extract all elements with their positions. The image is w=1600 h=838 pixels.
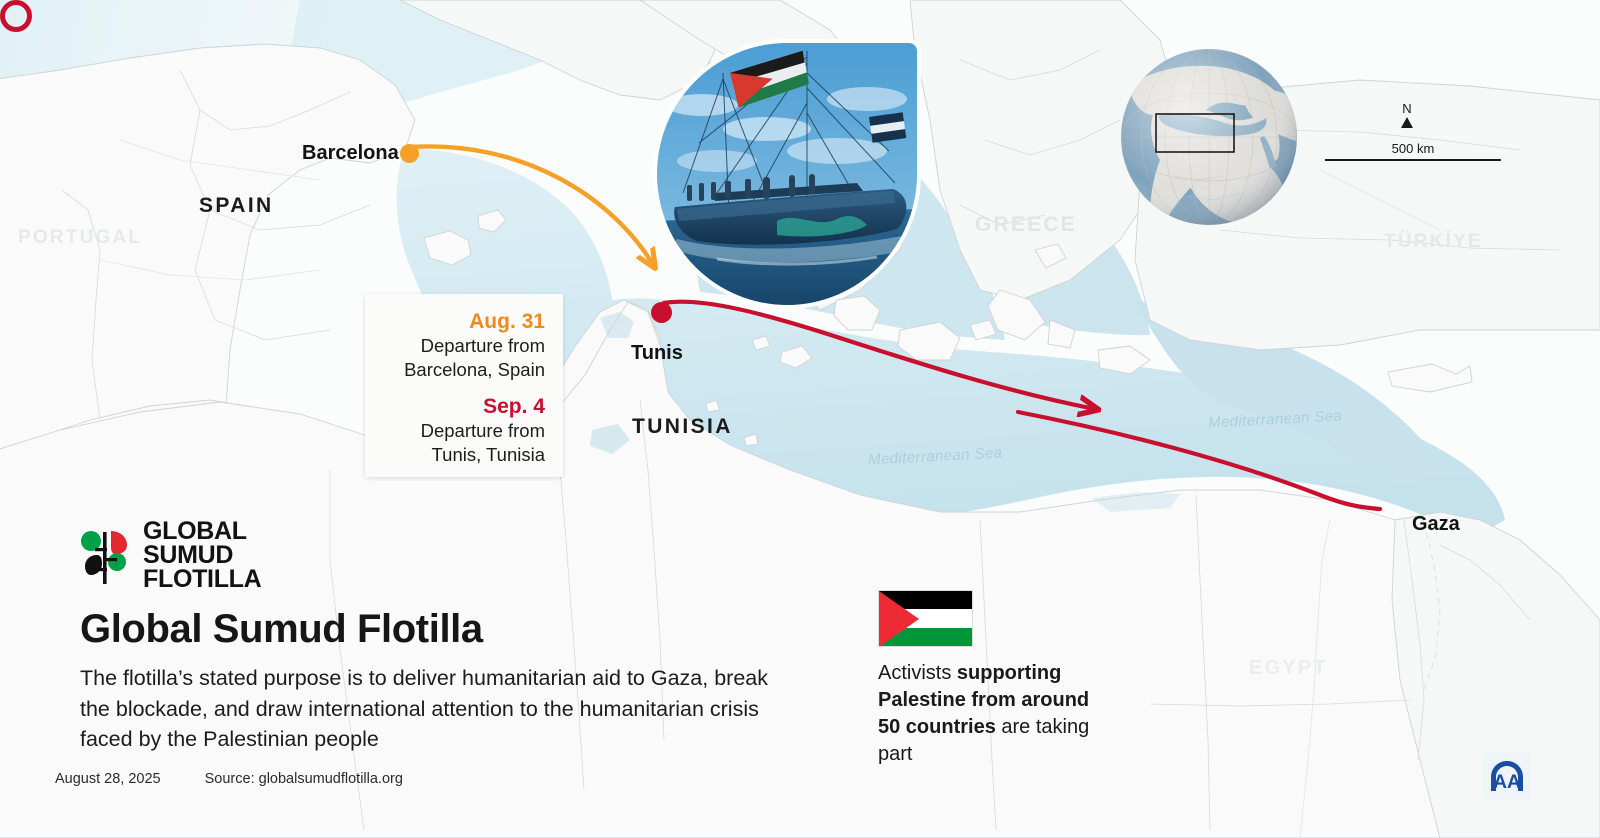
city-dot-barcelona[interactable] <box>400 144 419 163</box>
city-marker-gaza[interactable] <box>0 0 32 32</box>
leg-2-date: Sep. 4 <box>375 395 545 419</box>
source-credit: Source: globalsumudflotilla.org <box>205 771 403 787</box>
city-dot-tunis[interactable] <box>651 302 672 323</box>
leg-2-line1: Departure from <box>375 419 545 443</box>
north-arrow-icon <box>1401 117 1413 128</box>
leg-1-date: Aug. 31 <box>375 310 545 334</box>
aa-anadolu-agency-logo: AA <box>1483 752 1531 800</box>
card-spacer <box>375 382 545 395</box>
flag-triangle-red <box>879 591 919 647</box>
north-arrow: N <box>1385 102 1429 128</box>
north-label: N <box>1385 102 1429 115</box>
footer: August 28, 2025 Source: globalsumudfloti… <box>55 771 403 787</box>
svg-text:AA: AA <box>1493 772 1521 793</box>
olive-tree-mark <box>80 528 134 584</box>
city-label-gaza: Gaza <box>1412 513 1460 536</box>
city-label-barcelona: Barcelona <box>302 142 399 165</box>
infographic-canvas: PORTUGAL SPAIN TUNISIA GREECE TÜRKİYE EG… <box>0 0 1600 838</box>
scale-line <box>1325 159 1501 161</box>
scale-bar: 500 km <box>1325 141 1501 161</box>
page-description: The flotilla’s stated purpose is to deli… <box>80 663 795 755</box>
palestine-flag <box>878 590 973 647</box>
route-dates-card: Aug. 31 Departure from Barcelona, Spain … <box>365 294 563 477</box>
activists-text: Activists supporting Palestine from arou… <box>878 660 1108 768</box>
gsf-wordmark: GLOBAL SUMUD FLOTILLA <box>143 520 261 591</box>
scale-label: 500 km <box>1325 141 1501 156</box>
leg-2-line2: Tunis, Tunisia <box>375 443 545 467</box>
leg-1-line2: Barcelona, Spain <box>375 358 545 382</box>
activists-text-part1: Activists <box>878 662 957 684</box>
city-label-tunis: Tunis <box>631 342 683 365</box>
europe-africa-globe-inset <box>1118 46 1300 228</box>
brand-block: GLOBAL SUMUD FLOTILLA Global Sumud Floti… <box>80 520 810 755</box>
gsf-wordmark-line2: SUMUD <box>143 544 261 568</box>
flotilla-sailboat-photo <box>657 43 917 305</box>
gsf-logo: GLOBAL SUMUD FLOTILLA <box>80 520 810 591</box>
publish-date: August 28, 2025 <box>55 771 161 787</box>
leg-1-line1: Departure from <box>375 334 545 358</box>
gsf-wordmark-line3: FLOTILLA <box>143 568 261 592</box>
activists-stat: Activists supporting Palestine from arou… <box>878 590 1108 768</box>
page-title: Global Sumud Flotilla <box>80 609 810 649</box>
